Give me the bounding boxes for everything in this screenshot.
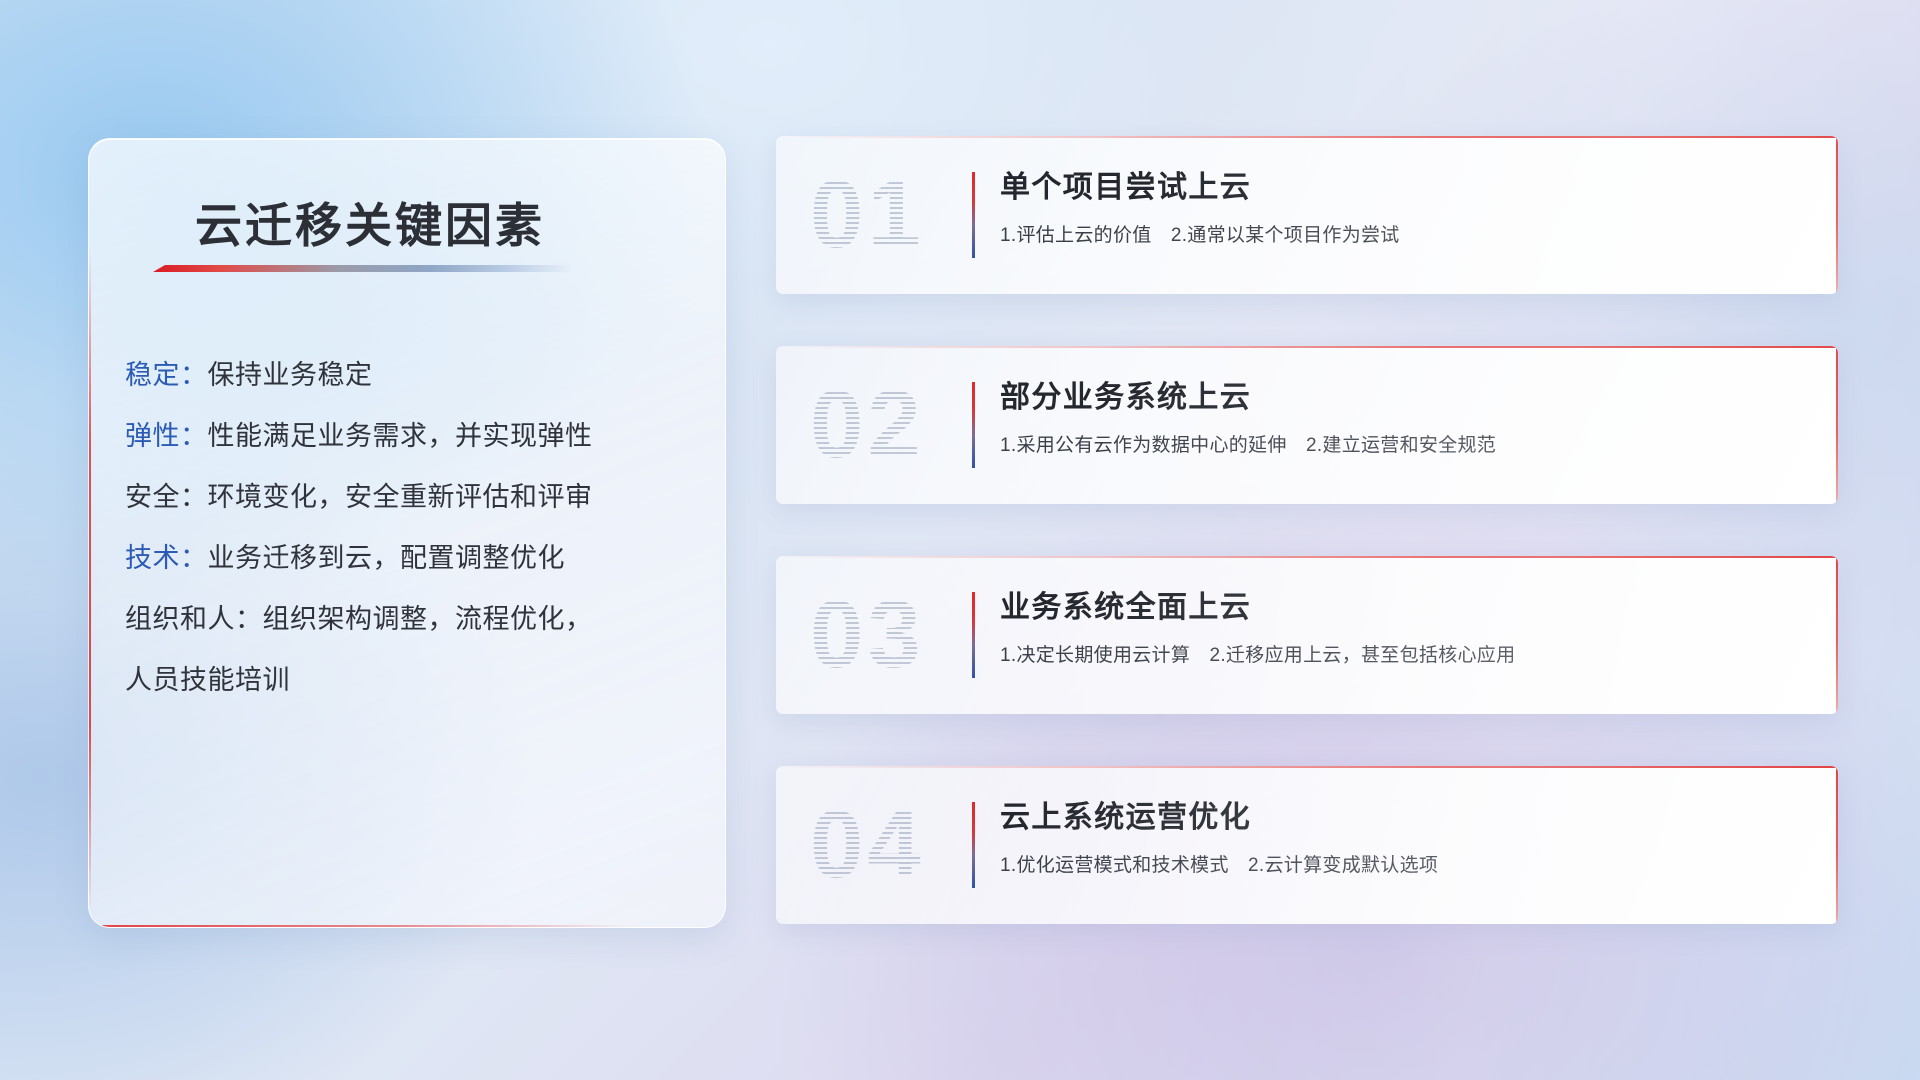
step-description: 1.评估上云的价值 2.通常以某个项目作为尝试	[1000, 222, 1804, 250]
step-number: 03	[810, 587, 925, 683]
step-description: 1.优化运营模式和技术模式 2.云计算变成默认选项	[1000, 852, 1804, 880]
step-divider-bar	[972, 802, 975, 888]
step-number: 02	[810, 377, 925, 473]
step-number: 04	[810, 797, 925, 893]
step-divider-bar	[972, 172, 975, 258]
list-item: 人员技能培训	[125, 650, 697, 711]
list-item-key: 组织和人：	[125, 604, 263, 634]
list-item-text: 保持业务稳定	[208, 360, 373, 390]
key-factors-panel: 云迁移关键因素 稳定：保持业务稳定 弹性：性能满足业务需求，并实现弹性 安全：环…	[88, 138, 726, 928]
step-description: 1.采用公有云作为数据中心的延伸 2.建立运营和安全规范	[1000, 432, 1804, 460]
step-divider-bar	[972, 592, 975, 678]
slide-canvas: 云迁移关键因素 稳定：保持业务稳定 弹性：性能满足业务需求，并实现弹性 安全：环…	[0, 0, 1920, 1080]
title-underline-rule	[153, 265, 573, 272]
list-item-key: 弹性：	[125, 421, 208, 451]
list-item-text: 组织架构调整，流程优化，	[263, 604, 593, 634]
list-item-text: 性能满足业务需求，并实现弹性	[208, 421, 593, 451]
list-item: 弹性：性能满足业务需求，并实现弹性	[125, 406, 697, 467]
step-card[interactable]: 02 部分业务系统上云 1.采用公有云作为数据中心的延伸 2.建立运营和安全规范	[776, 346, 1838, 504]
step-content: 云上系统运营优化 1.优化运营模式和技术模式 2.云计算变成默认选项	[1000, 796, 1804, 880]
step-card[interactable]: 01 单个项目尝试上云 1.评估上云的价值 2.通常以某个项目作为尝试	[776, 136, 1838, 294]
list-item: 技术：业务迁移到云，配置调整优化	[125, 528, 697, 589]
migration-steps-list: 01 单个项目尝试上云 1.评估上云的价值 2.通常以某个项目作为尝试 02 部…	[776, 136, 1838, 976]
list-item-key: 稳定：	[125, 360, 208, 390]
key-factors-list: 稳定：保持业务稳定 弹性：性能满足业务需求，并实现弹性 安全：环境变化，安全重新…	[125, 345, 697, 711]
step-title: 业务系统全面上云	[1000, 586, 1804, 630]
step-number: 01	[810, 167, 925, 263]
step-content: 业务系统全面上云 1.决定长期使用云计算 2.迁移应用上云，甚至包括核心应用	[1000, 586, 1804, 670]
list-item: 稳定：保持业务稳定	[125, 345, 697, 406]
step-title: 部分业务系统上云	[1000, 376, 1804, 420]
list-item-text: 业务迁移到云，配置调整优化	[208, 543, 566, 573]
page-title: 云迁移关键因素	[195, 187, 545, 256]
list-item-text: 人员技能培训	[125, 665, 290, 695]
list-item-text: 环境变化，安全重新评估和评审	[208, 482, 593, 512]
step-card[interactable]: 03 业务系统全面上云 1.决定长期使用云计算 2.迁移应用上云，甚至包括核心应…	[776, 556, 1838, 714]
step-description: 1.决定长期使用云计算 2.迁移应用上云，甚至包括核心应用	[1000, 642, 1804, 670]
list-item: 组织和人：组织架构调整，流程优化，	[125, 589, 697, 650]
list-item-key: 安全：	[125, 482, 208, 512]
list-item: 安全：环境变化，安全重新评估和评审	[125, 467, 697, 528]
list-item-key: 技术：	[125, 543, 208, 573]
step-title: 单个项目尝试上云	[1000, 166, 1804, 210]
step-content: 单个项目尝试上云 1.评估上云的价值 2.通常以某个项目作为尝试	[1000, 166, 1804, 250]
step-card[interactable]: 04 云上系统运营优化 1.优化运营模式和技术模式 2.云计算变成默认选项	[776, 766, 1838, 924]
step-divider-bar	[972, 382, 975, 468]
step-title: 云上系统运营优化	[1000, 796, 1804, 840]
step-content: 部分业务系统上云 1.采用公有云作为数据中心的延伸 2.建立运营和安全规范	[1000, 376, 1804, 460]
